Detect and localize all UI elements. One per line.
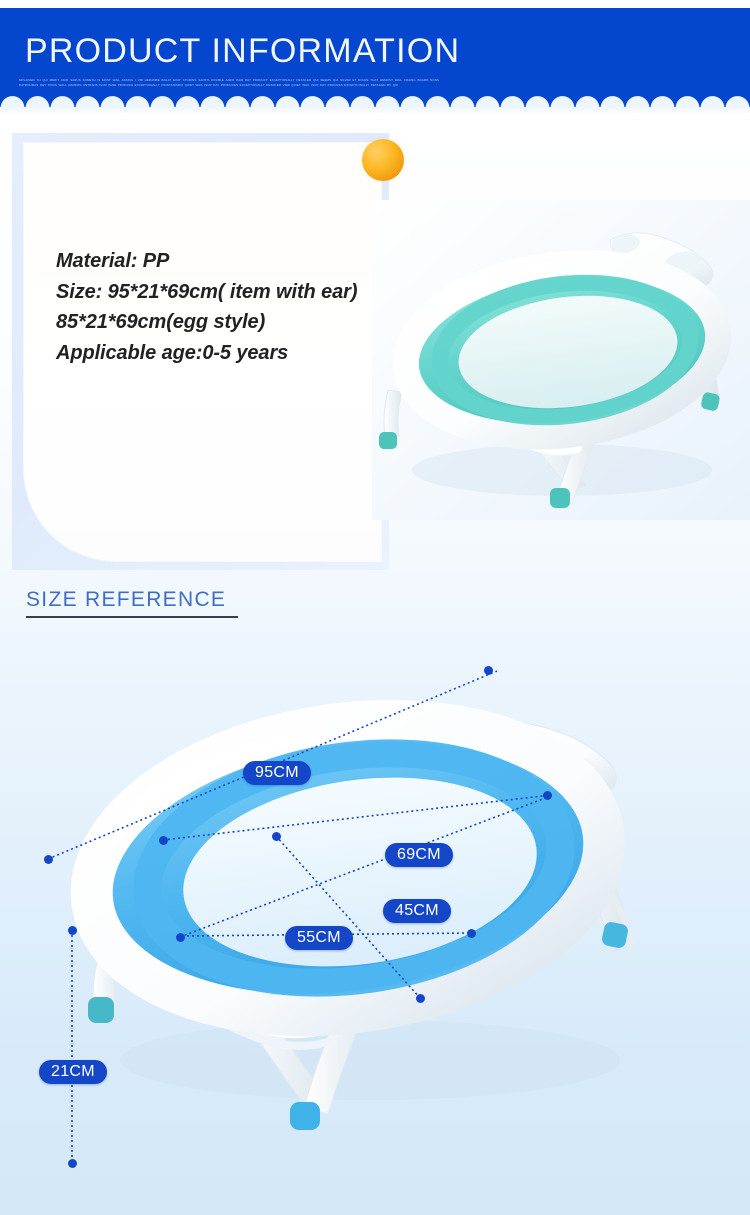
spec-line-size-egg: 85*21*69cm(egg style): [56, 307, 386, 338]
measure-dot-55-bottom: [416, 994, 425, 1003]
top-white-strip: [0, 0, 750, 8]
header-subtitle-microtext: MPLAINED TH QUI MERIT ANIM SARUS SOMETH …: [19, 78, 439, 94]
measure-dot-55-top: [272, 832, 281, 841]
measure-dot-95-left: [44, 855, 53, 864]
size-reference-heading: SIZE REFERENCE: [26, 588, 226, 617]
page-title: PRODUCT INFORMATION: [25, 31, 460, 71]
spec-line-age: Applicable age:0-5 years: [56, 338, 386, 369]
measure-dot-21-top: [68, 926, 77, 935]
dimension-badge-inner-length: 69CM: [385, 843, 453, 867]
spec-text-block: Material: PP Size: 95*21*69cm( item with…: [56, 246, 386, 368]
product-photo-bathtub: [372, 200, 750, 520]
measure-dot-21-bottom: [68, 1159, 77, 1168]
scallop-fill: [0, 107, 750, 113]
dimension-badge-inner-width: 45CM: [383, 899, 451, 923]
measure-dot-45-right: [467, 929, 476, 938]
dimension-badge-length: 95CM: [243, 761, 311, 785]
orange-ball-decoration: [362, 139, 404, 181]
dimension-badge-width: 55CM: [285, 926, 353, 950]
measure-dot-69-left: [159, 836, 168, 845]
spec-line-size-ear: Size: 95*21*69cm( item with ear): [56, 277, 386, 308]
page-header: PRODUCT INFORMATION MPLAINED TH QUI MERI…: [0, 8, 750, 107]
measure-dot-45-left: [176, 933, 185, 942]
spec-line-material: Material: PP: [56, 246, 386, 277]
size-reference-underline: [26, 616, 238, 618]
size-reference-diagram: [0, 640, 750, 1215]
measure-dot-95-right: [484, 666, 493, 675]
spec-card: Material: PP Size: 95*21*69cm( item with…: [24, 143, 381, 561]
measure-dot-69-right: [543, 791, 552, 800]
dimension-badge-height: 21CM: [39, 1060, 107, 1084]
